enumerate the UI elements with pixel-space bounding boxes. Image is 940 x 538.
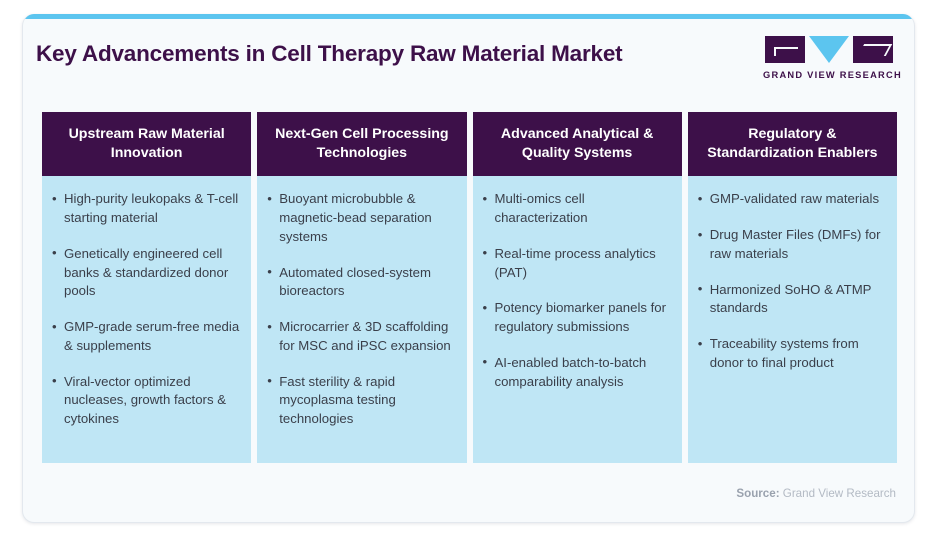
- list-item: Microcarrier & 3D scaffolding for MSC an…: [266, 318, 457, 355]
- list-item: Drug Master Files (DMFs) for raw materia…: [697, 226, 888, 263]
- source-value: Grand View Research: [783, 487, 896, 500]
- page-title: Key Advancements in Cell Therapy Raw Mat…: [36, 41, 622, 67]
- column-header: Regulatory & Standardization Enablers: [688, 112, 897, 176]
- column-body: Multi-omics cell characterization Real-t…: [473, 176, 682, 463]
- list-item: Harmonized SoHO & ATMP standards: [697, 281, 888, 318]
- list-item: AI-enabled batch-to-batch comparability …: [482, 354, 673, 391]
- list-item: Multi-omics cell characterization: [482, 190, 673, 227]
- list-item: Real-time process analytics (PAT): [482, 245, 673, 282]
- column-upstream-raw-material-innovation: Upstream Raw Material Innovation High-pu…: [42, 112, 251, 463]
- logo-letter-v-triangle-icon: [809, 36, 849, 63]
- list-item: Genetically engineered cell banks & stan…: [51, 245, 242, 301]
- bullet-list: High-purity leukopaks & T-cell starting …: [51, 190, 242, 428]
- header-row: Key Advancements in Cell Therapy Raw Mat…: [23, 19, 914, 102]
- logo-marks: [763, 36, 895, 64]
- column-header: Advanced Analytical & Quality Systems: [473, 112, 682, 176]
- infographic-card: Key Advancements in Cell Therapy Raw Mat…: [22, 14, 915, 523]
- column-header: Upstream Raw Material Innovation: [42, 112, 251, 176]
- logo-wordmark: GRAND VIEW RESEARCH: [763, 70, 895, 80]
- column-next-gen-cell-processing-technologies: Next-Gen Cell Processing Technologies Bu…: [257, 112, 466, 463]
- list-item: Automated closed-system bioreactors: [266, 264, 457, 301]
- bullet-list: Buoyant microbubble & magnetic-bead sepa…: [266, 190, 457, 428]
- list-item: GMP-validated raw materials: [697, 190, 888, 209]
- bullet-list: Multi-omics cell characterization Real-t…: [482, 190, 673, 391]
- bullet-list: GMP-validated raw materials Drug Master …: [697, 190, 888, 372]
- list-item: Fast sterility & rapid mycoplasma testin…: [266, 373, 457, 429]
- column-advanced-analytical-quality-systems: Advanced Analytical & Quality Systems Mu…: [473, 112, 682, 463]
- column-body: GMP-validated raw materials Drug Master …: [688, 176, 897, 463]
- list-item: Potency biomarker panels for regulatory …: [482, 299, 673, 336]
- source-label: Source:: [736, 487, 779, 500]
- columns-container: Upstream Raw Material Innovation High-pu…: [42, 112, 897, 463]
- list-item: Buoyant microbubble & magnetic-bead sepa…: [266, 190, 457, 246]
- list-item: Viral-vector optimized nucleases, growth…: [51, 373, 242, 429]
- source-note: Source: Grand View Research: [736, 487, 896, 500]
- list-item: High-purity leukopaks & T-cell starting …: [51, 190, 242, 227]
- column-regulatory-standardization-enablers: Regulatory & Standardization Enablers GM…: [688, 112, 897, 463]
- list-item: GMP-grade serum-free media & supplements: [51, 318, 242, 355]
- logo-letter-g-icon: [765, 36, 805, 63]
- column-body: High-purity leukopaks & T-cell starting …: [42, 176, 251, 463]
- logo-letter-r-icon: [853, 36, 893, 63]
- column-body: Buoyant microbubble & magnetic-bead sepa…: [257, 176, 466, 463]
- brand-logo: GRAND VIEW RESEARCH: [763, 36, 895, 80]
- column-header: Next-Gen Cell Processing Technologies: [257, 112, 466, 176]
- list-item: Traceability systems from donor to final…: [697, 335, 888, 372]
- infographic-canvas: Key Advancements in Cell Therapy Raw Mat…: [0, 0, 940, 538]
